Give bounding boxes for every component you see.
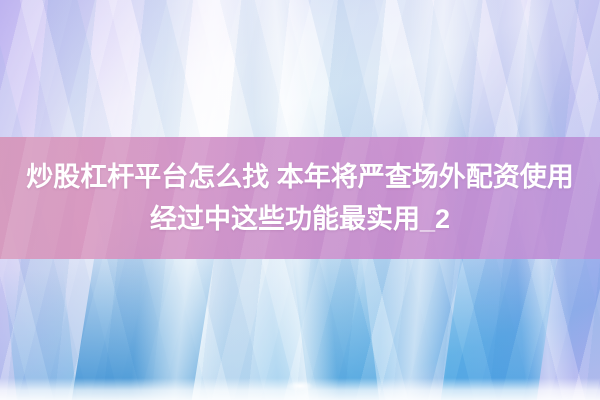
banner-image: 炒股杠杆平台怎么找 本年将严查场外配资使用经过中这些功能最实用_2 [0,0,600,400]
bottom-watermark [287,381,313,391]
page-title: 炒股杠杆平台怎么找 本年将严查场外配资使用经过中这些功能最实用_2 [14,156,586,240]
title-band: 炒股杠杆平台怎么找 本年将严查场外配资使用经过中这些功能最实用_2 [0,137,600,259]
